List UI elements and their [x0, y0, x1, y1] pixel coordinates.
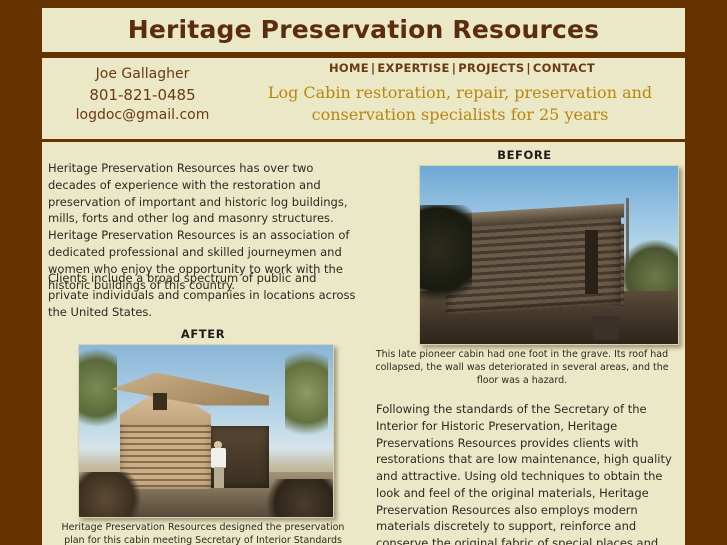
tree-left-icon — [78, 345, 117, 440]
left-column: Heritage Preservation Resources has over… — [42, 142, 364, 545]
page-root: Heritage Preservation Resources Joe Gall… — [0, 0, 727, 545]
main-navigation[interactable]: HOME|EXPERTISE|PROJECTS|CONTACT — [242, 61, 682, 75]
site-tagline: Log Cabin restoration, repair, preservat… — [234, 82, 686, 125]
debris-right-icon — [262, 479, 333, 517]
contact-phone[interactable]: 801-821-0485 — [50, 85, 235, 106]
clients-paragraph: Clients include a broad spectrum of publ… — [48, 270, 356, 320]
tree-right-icon — [285, 348, 328, 448]
after-photo — [78, 344, 334, 518]
contact-name: Joe Gallagher — [50, 65, 235, 85]
before-label: BEFORE — [364, 148, 685, 162]
header-info-bar: Joe Gallagher 801-821-0485 logdoc@gmail.… — [42, 58, 685, 139]
cabin-door-icon — [585, 230, 598, 294]
nav-separator-2: | — [450, 61, 459, 75]
nav-item-expertise[interactable]: EXPERTISE — [377, 61, 449, 75]
title-bar: Heritage Preservation Resources — [42, 8, 685, 52]
person-shirt-icon — [211, 448, 226, 468]
contact-email[interactable]: logdoc@gmail.com — [50, 106, 235, 126]
site-header: Heritage Preservation Resources Joe Gall… — [42, 8, 685, 139]
after-label: AFTER — [42, 327, 364, 341]
brush-left-icon — [419, 205, 472, 315]
before-photo — [419, 165, 679, 345]
person-icon — [211, 441, 226, 487]
person-pants-icon — [214, 467, 224, 488]
page-title: Heritage Preservation Resources — [128, 15, 600, 44]
nav-item-contact[interactable]: CONTACT — [533, 61, 595, 75]
cabin-window-icon — [153, 393, 167, 410]
nav-item-home[interactable]: HOME — [329, 61, 369, 75]
nav-separator-3: | — [524, 61, 533, 75]
main-content: Heritage Preservation Resources has over… — [42, 142, 685, 545]
nav-item-projects[interactable]: PROJECTS — [458, 61, 524, 75]
debris-left-icon — [79, 472, 145, 517]
contact-info: Joe Gallagher 801-821-0485 logdoc@gmail.… — [50, 65, 235, 126]
standards-paragraph: Following the standards of the Secretary… — [376, 401, 676, 545]
after-caption: Heritage Preservation Resources designed… — [50, 521, 356, 545]
right-column: BEFORE This late pioneer cabin had one f… — [364, 142, 685, 545]
bucket-icon — [593, 316, 619, 341]
before-caption: This late pioneer cabin had one foot in … — [372, 349, 672, 388]
